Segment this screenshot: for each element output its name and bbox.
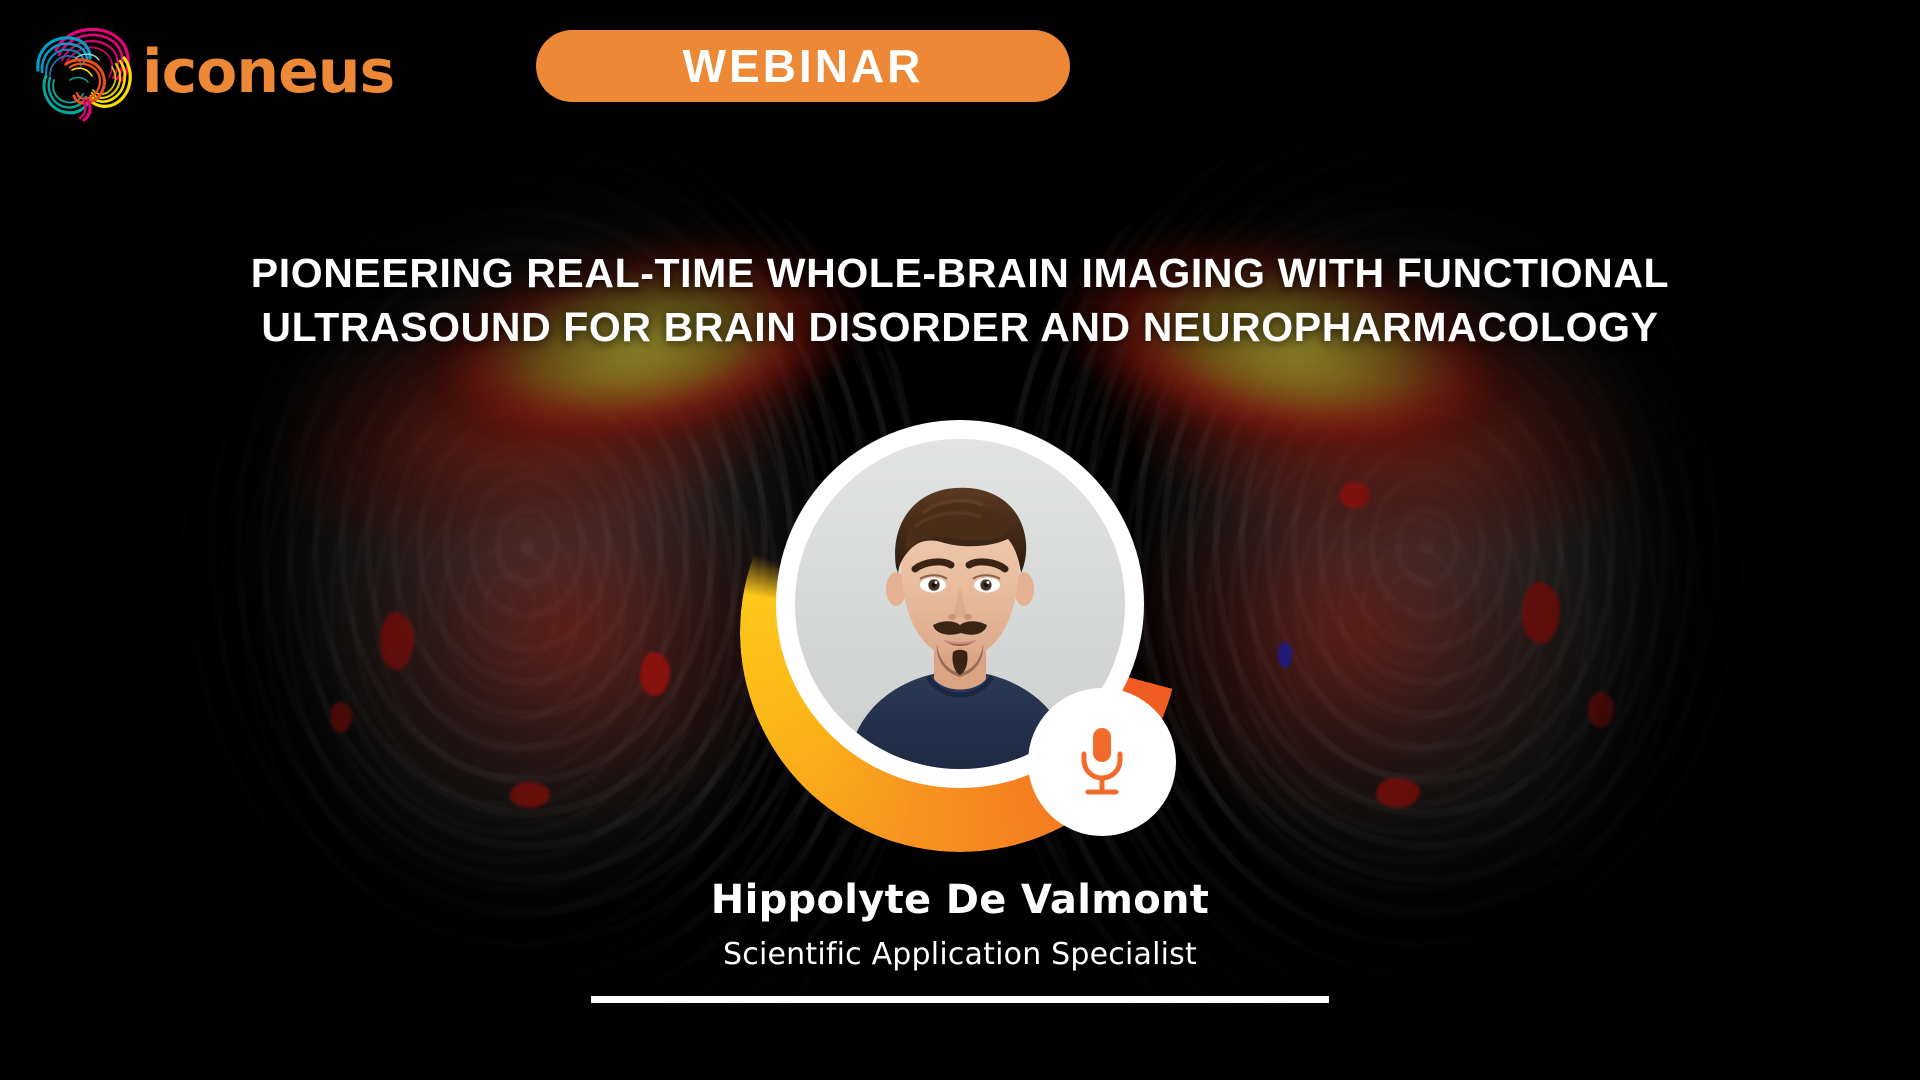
speaker-name: Hippolyte De Valmont	[0, 878, 1920, 923]
page-title-line-1: PIONEERING REAL-TIME WHOLE-BRAIN IMAGING…	[90, 246, 1830, 300]
brain-swirl-icon	[26, 14, 138, 122]
page-title: PIONEERING REAL-TIME WHOLE-BRAIN IMAGING…	[0, 246, 1920, 354]
bottom-divider	[591, 996, 1329, 1003]
microphone-badge	[1028, 688, 1176, 836]
brand-logo: iconeus	[26, 14, 394, 122]
speaker-portrait-block	[740, 412, 1180, 852]
speaker-info: Hippolyte De Valmont Scientific Applicat…	[0, 878, 1920, 973]
brand-wordmark: iconeus	[142, 42, 394, 102]
webinar-badge: WEBINAR	[536, 30, 1070, 102]
speaker-role: Scientific Application Specialist	[0, 937, 1920, 973]
microphone-icon	[1069, 724, 1135, 800]
webinar-slide: iconeus WEBINAR PIONEERING REAL-TIME WHO…	[0, 0, 1920, 1080]
page-title-line-2: ULTRASOUND FOR BRAIN DISORDER AND NEUROP…	[90, 300, 1830, 354]
webinar-badge-label: WEBINAR	[683, 43, 924, 89]
